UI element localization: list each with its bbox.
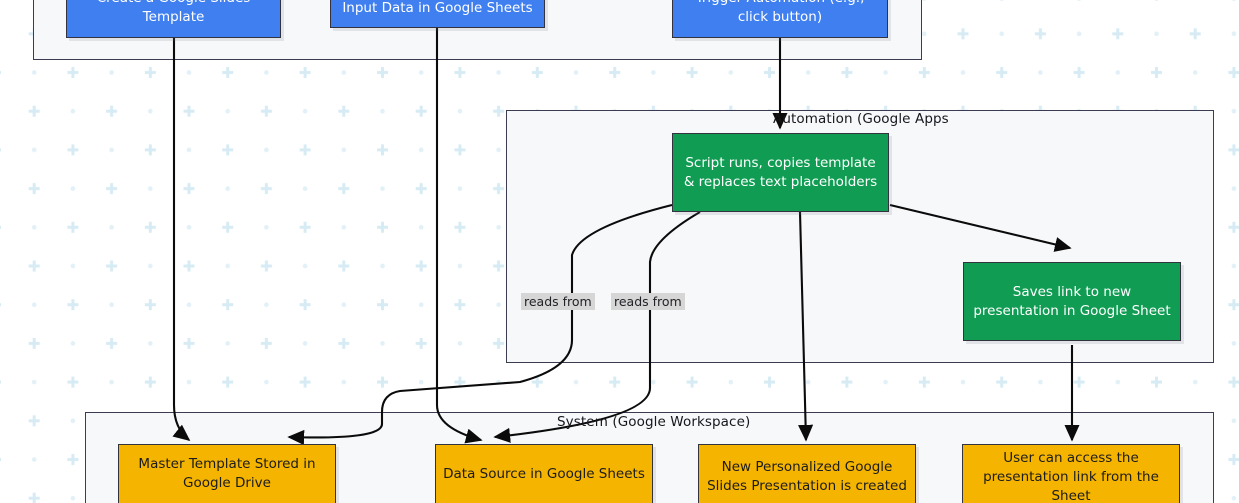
- node-trigger-automation[interactable]: Trigger Automation (e.g., click button): [672, 0, 888, 38]
- flowchart-canvas: Create a Google Slides Template Input Da…: [0, 0, 1239, 503]
- node-create-template[interactable]: Create a Google Slides Template: [66, 0, 281, 38]
- node-new-presentation[interactable]: New Personalized Google Slides Presentat…: [698, 444, 916, 503]
- edge-label-reads-from-2: reads from: [611, 293, 685, 310]
- subgraph-label-system: System (Google Workspace): [557, 414, 750, 430]
- node-script-runs[interactable]: Script runs, copies template & replaces …: [672, 133, 889, 212]
- edge-label-reads-from-1: reads from: [521, 293, 595, 310]
- node-input-data[interactable]: Input Data in Google Sheets: [330, 0, 545, 28]
- edge-n1-n6: [174, 38, 189, 440]
- subgraph-label-automation: Automation (Google Apps: [773, 111, 949, 127]
- node-master-template[interactable]: Master Template Stored in Google Drive: [118, 444, 336, 503]
- node-data-source[interactable]: Data Source in Google Sheets: [435, 444, 653, 503]
- edge-n2-n7: [437, 28, 481, 440]
- node-user-access[interactable]: User can access the presentation link fr…: [962, 444, 1180, 503]
- node-saves-link[interactable]: Saves link to new presentation in Google…: [963, 262, 1181, 341]
